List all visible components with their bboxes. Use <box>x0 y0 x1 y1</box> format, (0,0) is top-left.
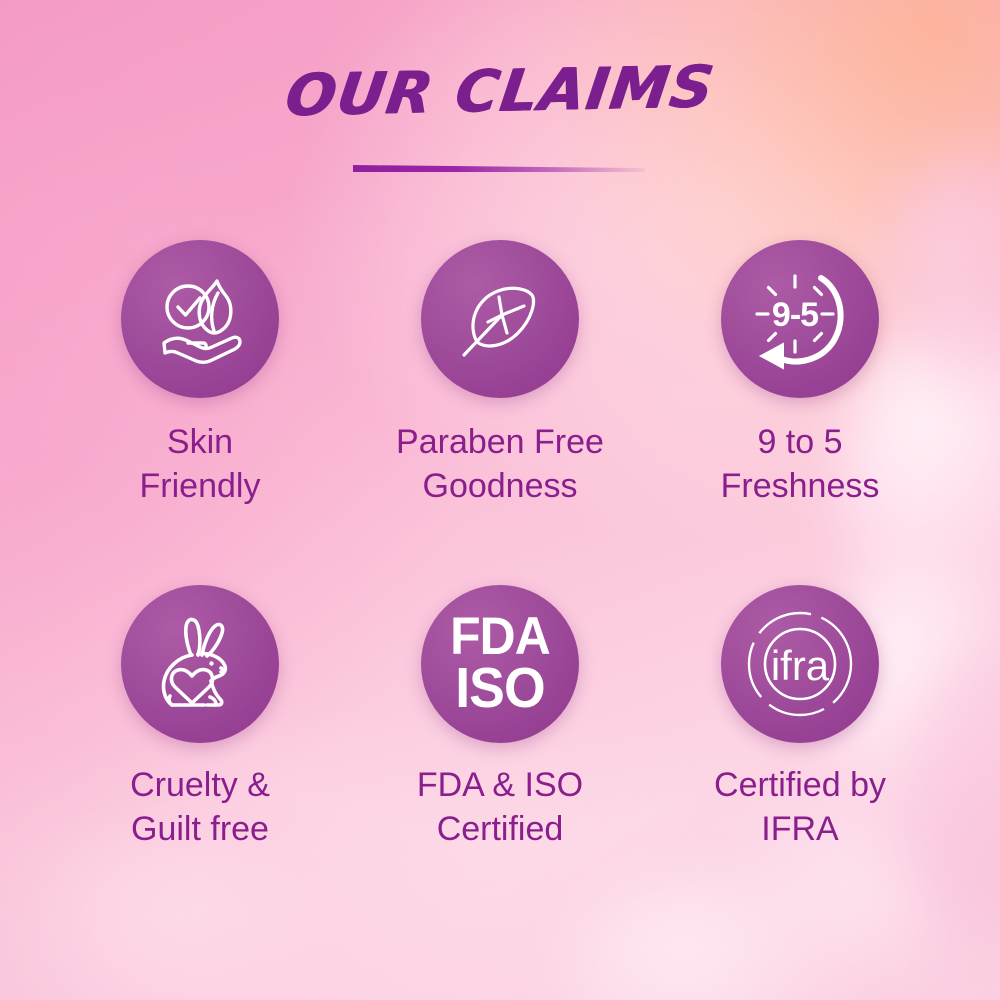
claim-badge <box>421 240 579 398</box>
claim-label: Paraben Free Goodness <box>396 420 604 508</box>
fda-iso-wordmark-icon: FDA ISO <box>450 613 550 714</box>
svg-text:ifra: ifra <box>771 642 830 689</box>
fda-text: FDA <box>450 613 550 662</box>
claim-label: FDA & ISO Certified <box>417 763 583 851</box>
claim-item-ifra: ifra Certified by IFRA <box>650 585 950 930</box>
header: OUR CLAIMS <box>0 62 1000 120</box>
claim-item-skin-friendly: Skin Friendly <box>50 240 350 585</box>
claim-badge <box>121 240 279 398</box>
claim-label: Cruelty & Guilt free <box>130 763 270 851</box>
claim-badge: ifra <box>721 585 879 743</box>
claim-item-fda-iso: FDA ISO FDA & ISO Certified <box>350 585 650 930</box>
rabbit-heart-icon <box>147 611 253 717</box>
title-underline <box>353 165 645 172</box>
ifra-logo-icon: ifra <box>742 606 858 722</box>
page-title: OUR CLAIMS <box>282 58 718 125</box>
claim-item-paraben-free: Paraben Free Goodness <box>350 240 650 585</box>
claim-label: 9 to 5 Freshness <box>721 420 880 508</box>
claim-item-cruelty-free: Cruelty & Guilt free <box>50 585 350 930</box>
hand-holding-leaf-check-icon <box>148 267 252 371</box>
claim-item-9-to-5-freshness: 9-5 9 to 5 Freshness <box>650 240 950 585</box>
claims-grid: Skin Friendly Paraben Free Goodness <box>50 240 950 930</box>
claim-label: Certified by IFRA <box>714 763 886 851</box>
claim-badge: 9-5 <box>721 240 879 398</box>
svg-text:9-5: 9-5 <box>772 296 818 334</box>
clock-9-to-5-arrow-icon: 9-5 <box>745 264 855 374</box>
claims-banner: OUR CLAIMS <box>0 0 1000 1000</box>
claim-badge <box>121 585 279 743</box>
claim-badge: FDA ISO <box>421 585 579 743</box>
iso-text: ISO <box>450 662 550 714</box>
claim-label: Skin Friendly <box>140 420 261 508</box>
leaf-icon <box>450 269 550 369</box>
